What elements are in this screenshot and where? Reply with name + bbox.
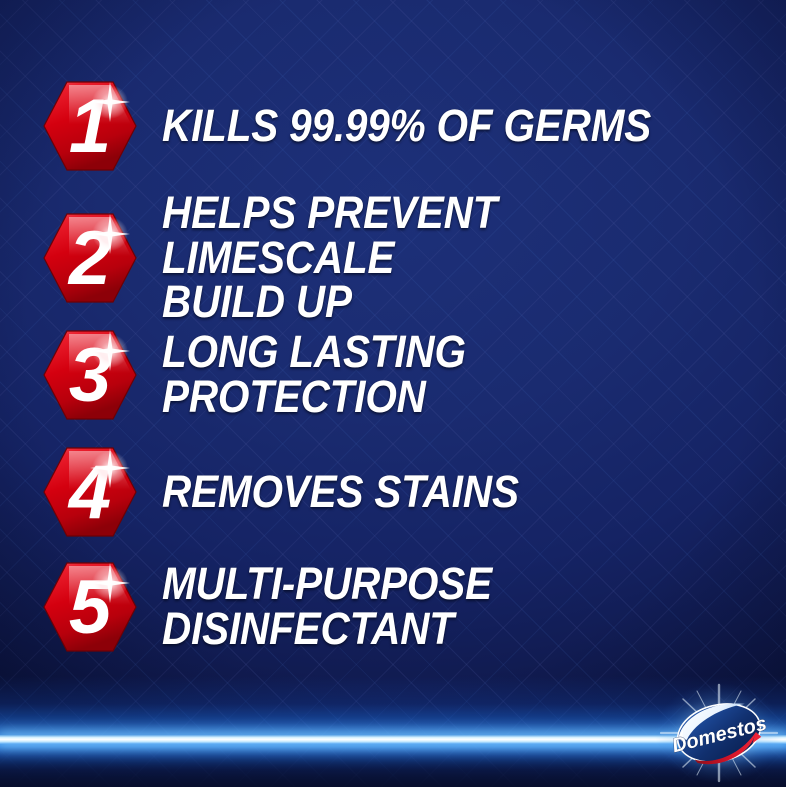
benefit-badge-3: 3 <box>44 327 136 423</box>
benefit-text-5: MULTI-PURPOSE DISINFECTANT <box>162 562 724 651</box>
poster-canvas: 1 KILLS 99.99% OF GERMS <box>0 0 786 787</box>
benefit-badge-2: 2 <box>44 210 136 306</box>
benefit-text-2: HELPS PREVENT LIMESCALE BUILD UP <box>162 191 724 325</box>
benefit-badge-1: 1 <box>44 78 136 174</box>
benefit-row-1: 1 KILLS 99.99% OF GERMS <box>44 78 705 174</box>
benefit-badge-4: 4 <box>44 444 136 540</box>
benefit-text-1: KILLS 99.99% OF GERMS <box>162 104 651 149</box>
benefit-badge-5: 5 <box>44 559 136 655</box>
benefit-row-4: 4 REMOVES STAINS <box>44 444 558 540</box>
benefit-text-4: REMOVES STAINS <box>162 470 519 515</box>
benefit-row-3: 3 LONG LASTING PROTECTION <box>44 327 786 423</box>
benefit-row-2: 2 HELPS PREVENT LIMESCALE BUILD UP <box>44 191 786 325</box>
benefit-text-3: LONG LASTING PROTECTION <box>162 330 724 419</box>
benefit-row-5: 5 MULTI-PURPOSE DISINFECTANT <box>44 559 786 655</box>
domestos-logo: Domestos <box>655 683 783 783</box>
